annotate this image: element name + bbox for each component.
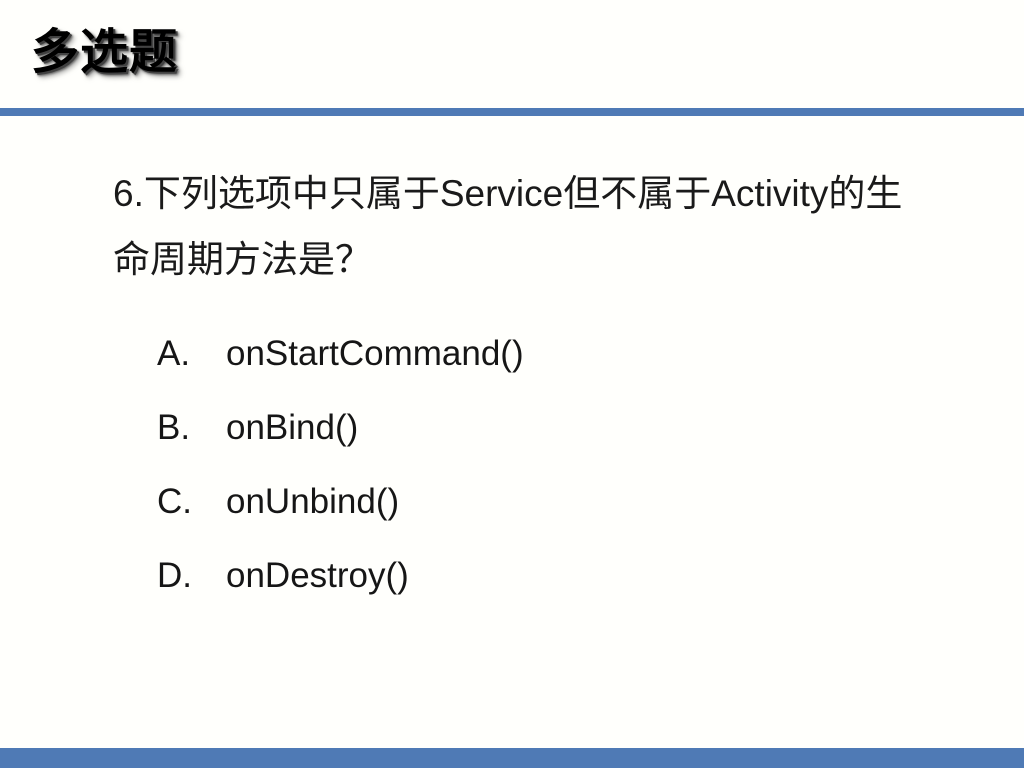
options-list: A. onStartCommand() B. onBind() C. onUnb… [157,317,957,613]
option-text-a: onStartCommand() [226,317,524,391]
bottom-accent-bar [0,748,1024,768]
option-text-d: onDestroy() [226,539,409,613]
slide-root: 多选题 6.下列选项中只属于Service但不属于Activity的生 命周期方… [0,0,1024,768]
option-letter-b: B. [157,391,226,465]
option-letter-d: D. [157,539,226,613]
option-text-b: onBind() [226,391,358,465]
option-item-a[interactable]: A. onStartCommand() [157,317,957,391]
option-letter-c: C. [157,465,226,539]
option-letter-a: A. [157,317,226,391]
option-item-c[interactable]: C. onUnbind() [157,465,957,539]
slide-content: 6.下列选项中只属于Service但不属于Activity的生 命周期方法是？ … [0,116,1024,748]
page-title: 多选题 [31,24,178,82]
option-item-d[interactable]: D. onDestroy() [157,539,957,613]
title-divider [0,108,1024,116]
question-text: 6.下列选项中只属于Service但不属于Activity的生 命周期方法是？ [113,161,993,293]
option-item-b[interactable]: B. onBind() [157,391,957,465]
option-text-c: onUnbind() [226,465,399,539]
question-line-2: 命周期方法是？ [113,227,993,293]
slide-title-area: 多选题 [0,0,1024,108]
question-line-1: 6.下列选项中只属于Service但不属于Activity的生 [113,161,993,227]
